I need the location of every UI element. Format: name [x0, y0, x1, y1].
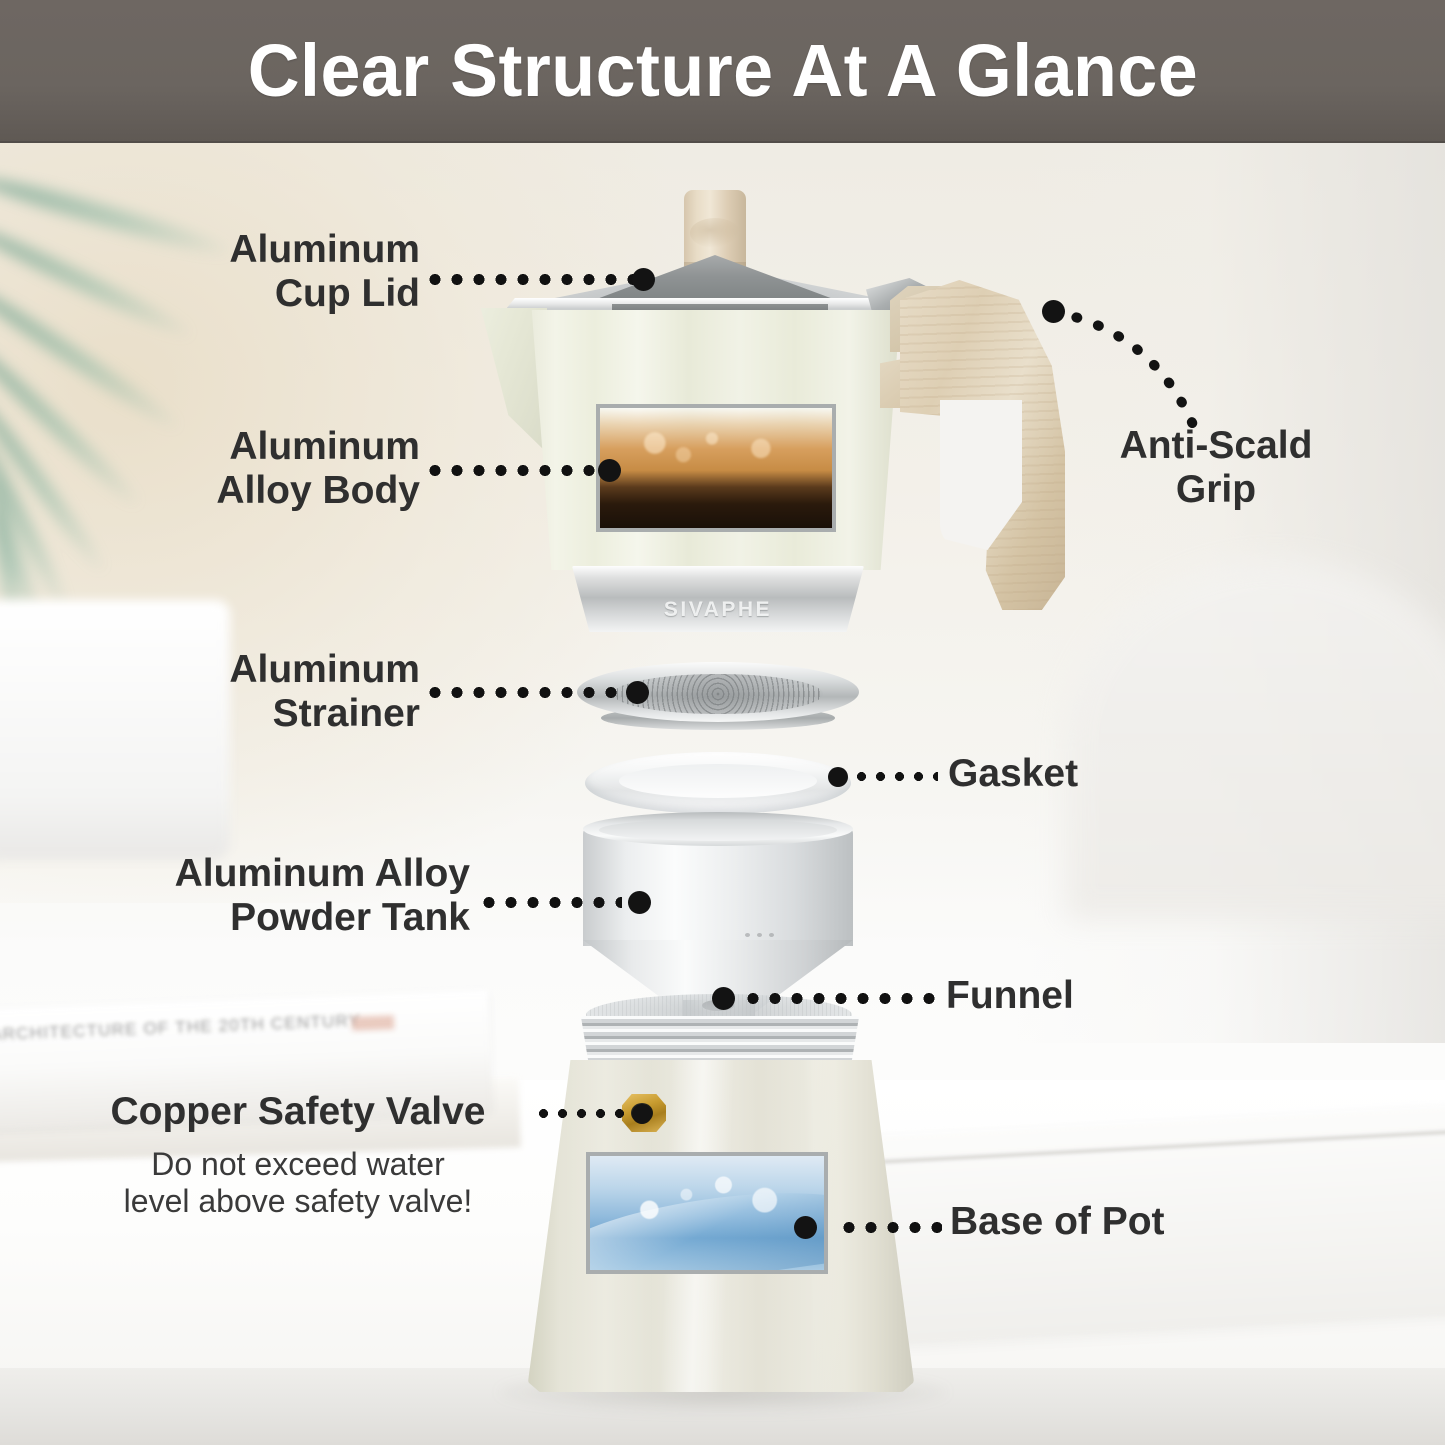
powder-tank-vent-holes — [745, 933, 775, 938]
gasket-inner-hole — [619, 764, 817, 798]
callout-aluminum-alloy-body: Aluminum Alloy Body — [130, 425, 420, 512]
callout-base-of-pot: Base of Pot — [950, 1200, 1280, 1244]
brand-logo-text: SIVAPHE — [572, 598, 864, 622]
callout-label-powder-tank: Aluminum Alloy Powder Tank — [80, 852, 470, 939]
anchor-dot-powder-tank — [628, 891, 651, 914]
inset-image-water — [586, 1152, 828, 1274]
page-title: Clear Structure At A Glance — [247, 28, 1197, 113]
pour-spout — [455, 308, 547, 453]
anchor-dot-cup-lid — [632, 268, 655, 291]
leader-line-base-of-pot — [838, 1222, 942, 1233]
leader-line-alloy-body — [424, 465, 602, 476]
anchor-dot-base-of-pot — [794, 1216, 817, 1239]
powder-tank-cavity — [599, 819, 837, 841]
leader-line-cup-lid — [424, 274, 636, 285]
callout-copper-safety-valve: Copper Safety Valve Do not exceed water … — [72, 1090, 524, 1221]
leader-line-grip — [1030, 280, 1290, 450]
anchor-dot-gasket — [828, 767, 848, 787]
inset-image-crema — [596, 404, 836, 532]
infographic-canvas: ARCHITECTURE OF THE 20TH CENTURY Clear S… — [0, 0, 1445, 1445]
callout-aluminum-strainer: Aluminum Strainer — [130, 648, 420, 735]
callout-label-strainer: Aluminum Strainer — [130, 648, 420, 735]
callout-aluminum-cup-lid: Aluminum Cup Lid — [130, 228, 420, 315]
leader-line-safety-valve — [534, 1109, 630, 1118]
leader-line-powder-tank — [478, 897, 622, 908]
callout-label-safety-valve: Copper Safety Valve — [72, 1090, 524, 1134]
anchor-dot-funnel — [712, 987, 735, 1010]
callout-gasket: Gasket — [948, 752, 1248, 796]
callout-label-alloy-body: Aluminum Alloy Body — [130, 425, 420, 512]
anchor-dot-grip — [1042, 300, 1065, 323]
callout-label-gasket: Gasket — [948, 752, 1248, 796]
callout-funnel: Funnel — [946, 974, 1246, 1018]
callout-powder-tank: Aluminum Alloy Powder Tank — [80, 852, 470, 939]
anchor-dot-strainer — [626, 681, 649, 704]
header-banner: Clear Structure At A Glance — [0, 0, 1445, 143]
anchor-dot-safety-valve — [632, 1104, 652, 1124]
anchor-dot-alloy-body — [598, 459, 621, 482]
callout-label-funnel: Funnel — [946, 974, 1246, 1018]
leader-line-strainer — [424, 687, 620, 698]
leader-line-funnel — [742, 993, 938, 1004]
callout-label-base-of-pot: Base of Pot — [950, 1200, 1280, 1244]
callout-note-safety-valve: Do not exceed water level above safety v… — [72, 1146, 524, 1222]
callout-label-cup-lid: Aluminum Cup Lid — [130, 228, 420, 315]
leader-line-gasket — [852, 772, 938, 781]
